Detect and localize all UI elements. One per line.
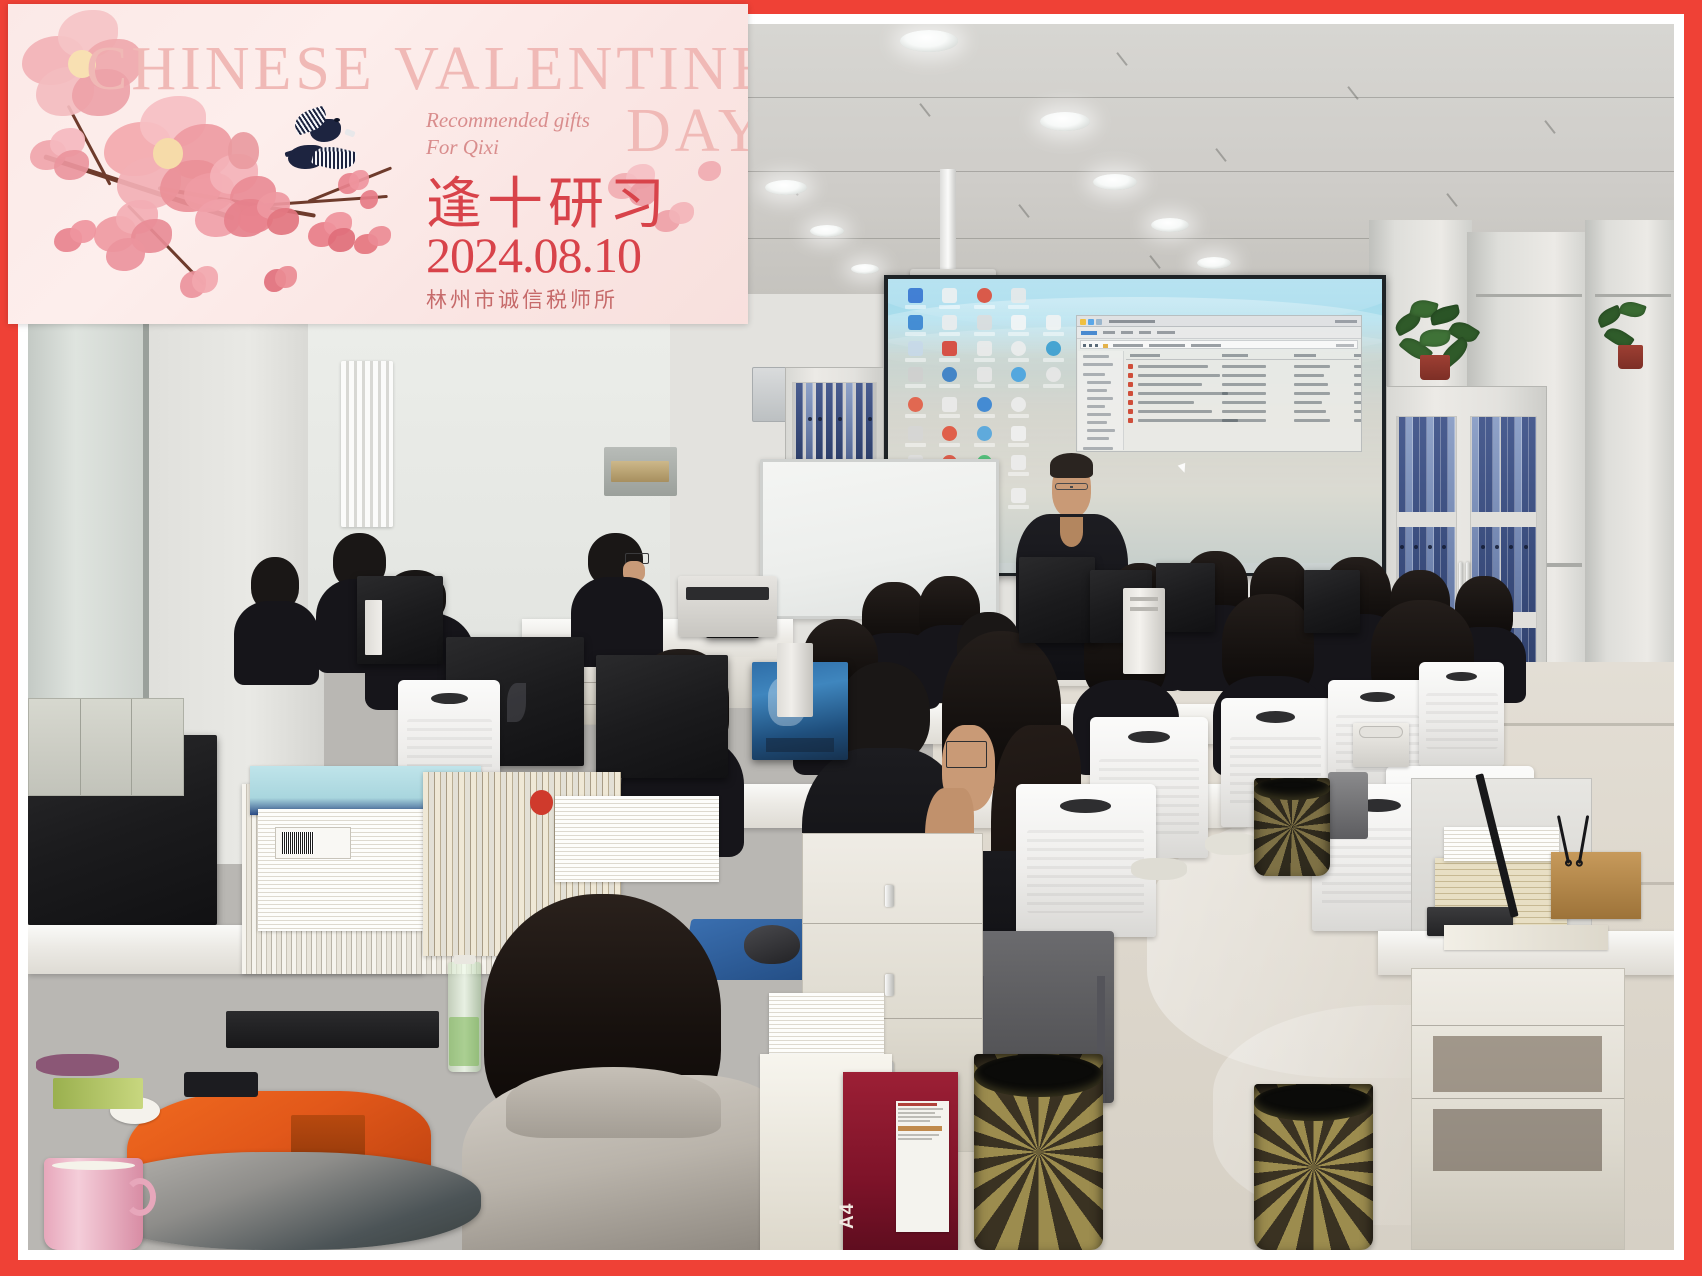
- table-row[interactable]: [1126, 390, 1360, 397]
- table-row[interactable]: [1126, 417, 1360, 424]
- potted-plant-icon: [1588, 294, 1670, 380]
- paper-stack-icon: [555, 796, 720, 882]
- shoe-icon: [1131, 858, 1187, 880]
- keyboard-icon: [226, 1011, 440, 1048]
- explorer-ribbon[interactable]: [1077, 327, 1362, 339]
- desk-phone-icon: [1353, 723, 1409, 767]
- table-row[interactable]: [1126, 381, 1360, 388]
- attendee: [234, 557, 320, 680]
- printer-icon: [678, 576, 777, 637]
- attendee-with-glasses: [571, 533, 663, 662]
- desktop-tower-icon: [1123, 588, 1166, 674]
- ceiling-light-icon: [1093, 174, 1137, 190]
- explorer-nav-pane[interactable]: [1078, 351, 1124, 451]
- eyeglasses-icon: [946, 741, 987, 768]
- desk-document: [1444, 925, 1609, 950]
- banner-title-line2: DAY: [626, 96, 748, 167]
- table-row[interactable]: [1126, 372, 1360, 379]
- explorer-column-headers[interactable]: [1126, 352, 1360, 360]
- banner-subtitle-line2: For Qixi: [426, 135, 499, 160]
- green-pen-icon: [53, 1078, 144, 1109]
- banner-title-line1: CHINESE VALENTINE'S: [86, 34, 748, 105]
- monitor-icon: [1304, 570, 1360, 634]
- desktop-tower-icon: [365, 600, 381, 655]
- mouse-cursor-icon: [1178, 463, 1189, 474]
- banner-date: 2024.08.10: [426, 226, 641, 284]
- monitor-icon: [596, 655, 728, 778]
- banner-subtitle-line1: Recommended gifts: [426, 108, 590, 133]
- phone-handset-icon: [1328, 772, 1368, 839]
- glasses-case-icon: [184, 1072, 258, 1097]
- presenter-head: [1052, 459, 1092, 516]
- overhead-cabinet: [28, 698, 184, 796]
- explorer-titlebar[interactable]: [1077, 316, 1362, 327]
- ceiling-light-icon: [1197, 257, 1231, 269]
- wall-control-panel: [604, 447, 676, 496]
- pink-mug-icon: [44, 1158, 143, 1250]
- monitor-icon: [1019, 557, 1095, 643]
- potted-plant-icon: [1388, 294, 1495, 392]
- a4-box-label: A4: [837, 1202, 859, 1228]
- foreground-person-grey-hoodie: [440, 894, 810, 1250]
- table-row[interactable]: [1126, 399, 1360, 406]
- hoodie-hood: [506, 1067, 721, 1138]
- explorer-address-bar[interactable]: [1080, 340, 1359, 349]
- waste-bin-icon: [1254, 778, 1330, 876]
- barcode-label: [275, 827, 351, 859]
- ceiling-light-icon: [765, 180, 807, 195]
- projector-mount-pole: [940, 169, 956, 274]
- magpie-bird-icon: [284, 136, 356, 180]
- ceiling-light-icon: [1151, 218, 1189, 232]
- a4-box-spec-label: [896, 1101, 949, 1233]
- file-explorer-window[interactable]: [1076, 315, 1363, 453]
- red-sticker-icon: [530, 790, 553, 815]
- wall-radiator: [341, 361, 394, 527]
- screenshot-root: A4: [0, 0, 1702, 1276]
- shoe-icon: [1205, 833, 1258, 855]
- chair: [1419, 662, 1505, 766]
- purple-coaster-icon: [36, 1054, 118, 1076]
- waste-bin-icon: [974, 1054, 1102, 1250]
- table-row[interactable]: [1126, 408, 1360, 415]
- desktop-tower-icon: [777, 643, 813, 717]
- pedestal-cabinet: [1411, 968, 1625, 1250]
- banner-organization: 林州市诚信税师所: [426, 284, 618, 314]
- waste-bin-icon: [1254, 1084, 1373, 1250]
- ceiling-light-icon: [810, 225, 844, 237]
- a4-paper-box: A4: [843, 1072, 958, 1250]
- table-row[interactable]: [1126, 363, 1360, 370]
- qixi-promo-banner: CHINESE VALENTINE'S DAY Recommended gift…: [8, 4, 748, 324]
